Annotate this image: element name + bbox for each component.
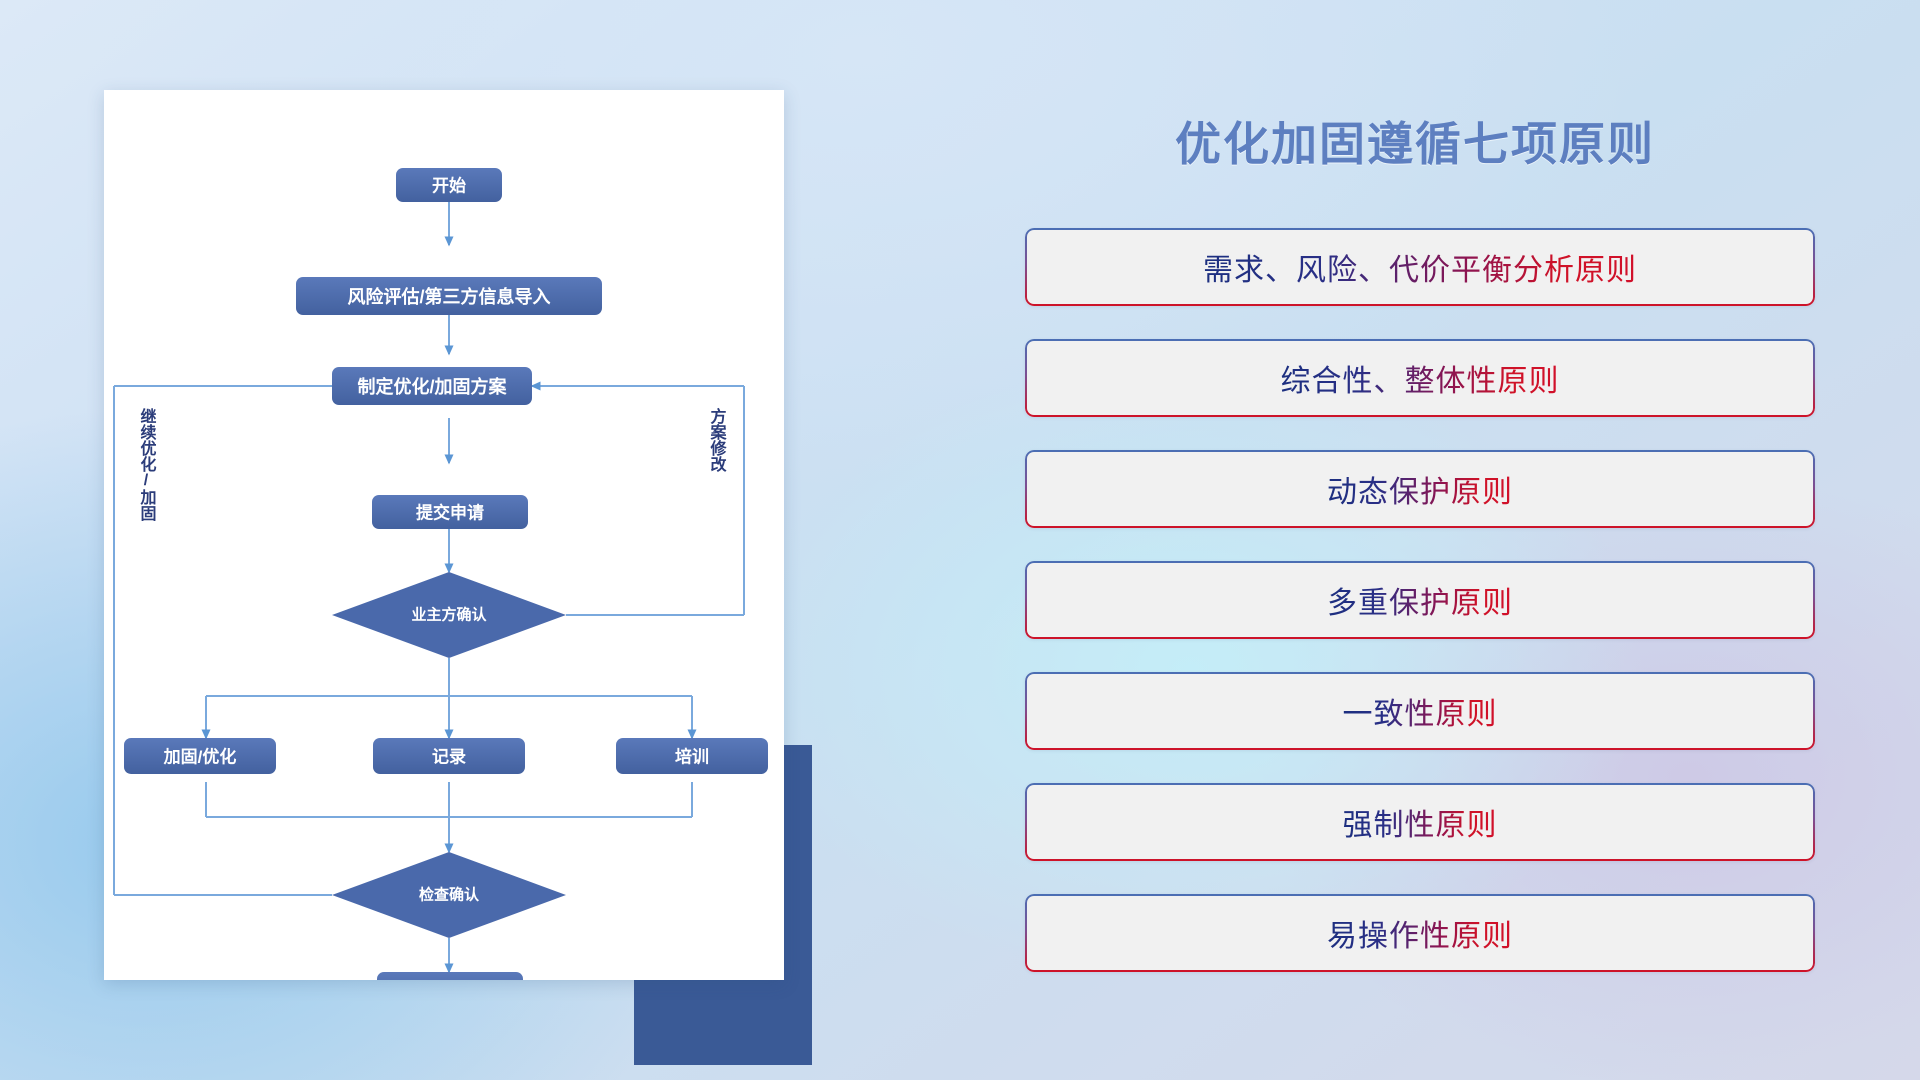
principles-card-list: 需求、风险、代价平衡分析原则 综合性、整体性原则 动态保护原则 多重保护原则 一… <box>1025 228 1815 1005</box>
flow-node-start[interactable]: 开始 <box>396 168 502 202</box>
flow-node-plan-label: 制定优化/加固方案 <box>357 376 507 397</box>
principle-card[interactable]: 强制性原则 <box>1025 783 1815 861</box>
flow-node-start-label: 开始 <box>432 176 466 196</box>
flow-node-record[interactable]: 记录 <box>373 738 525 774</box>
flow-node-check-decision-label: 检查确认 <box>419 886 480 904</box>
principle-card[interactable]: 多重保护原则 <box>1025 561 1815 639</box>
principle-card[interactable]: 综合性、整体性原则 <box>1025 339 1815 417</box>
flow-node-report-label: 生成报告 <box>416 980 484 981</box>
flowchart-svg: 开始 风险评估/第三方信息导入 制定优化/加固方案 提交申请 业主方确认 <box>104 90 784 980</box>
principle-card[interactable]: 易操作性原则 <box>1025 894 1815 972</box>
flow-node-training-label: 培训 <box>675 747 709 767</box>
principle-card-label: 动态保护原则 <box>1327 467 1513 511</box>
principle-card[interactable]: 需求、风险、代价平衡分析原则 <box>1025 228 1815 306</box>
flow-node-report[interactable]: 生成报告 <box>377 972 523 980</box>
principle-card-label: 易操作性原则 <box>1327 911 1513 955</box>
principles-title: 优化加固遵循七项原则 <box>1010 108 1820 174</box>
principle-card[interactable]: 动态保护原则 <box>1025 450 1815 528</box>
principle-card-label: 多重保护原则 <box>1327 578 1513 622</box>
flow-node-training[interactable]: 培训 <box>616 738 768 774</box>
flow-node-assess[interactable]: 风险评估/第三方信息导入 <box>296 277 602 315</box>
flow-node-owner-decision[interactable]: 业主方确认 <box>332 572 566 658</box>
flow-node-submit-label: 提交申请 <box>416 503 484 523</box>
flow-node-check-decision[interactable]: 检查确认 <box>332 852 566 938</box>
principle-card-label: 强制性原则 <box>1343 800 1498 844</box>
principle-card[interactable]: 一致性原则 <box>1025 672 1815 750</box>
flow-node-submit[interactable]: 提交申请 <box>372 495 528 529</box>
flow-node-owner-decision-label: 业主方确认 <box>411 606 487 624</box>
flow-node-plan[interactable]: 制定优化/加固方案 <box>332 367 532 405</box>
flow-edge-label-right-loop: 方案修改 <box>708 407 728 473</box>
principles-panel: 优化加固遵循七项原则 需求、风险、代价平衡分析原则 综合性、整体性原则 动态保护… <box>1010 0 1860 1080</box>
principle-card-label: 综合性、整体性原则 <box>1281 356 1560 400</box>
flow-edge-label-left-loop: 继续优化/加固 <box>138 407 158 522</box>
flow-node-record-label: 记录 <box>432 748 466 767</box>
principle-card-label: 一致性原则 <box>1343 689 1498 733</box>
flowchart-region: 开始 风险评估/第三方信息导入 制定优化/加固方案 提交申请 业主方确认 <box>104 90 804 970</box>
principle-card-label: 需求、风险、代价平衡分析原则 <box>1203 245 1637 289</box>
flowchart-panel: 开始 风险评估/第三方信息导入 制定优化/加固方案 提交申请 业主方确认 <box>104 90 784 980</box>
flow-node-assess-label: 风险评估/第三方信息导入 <box>348 286 551 307</box>
flow-node-reinforce-label: 加固/优化 <box>163 747 237 767</box>
flow-node-reinforce[interactable]: 加固/优化 <box>124 738 276 774</box>
